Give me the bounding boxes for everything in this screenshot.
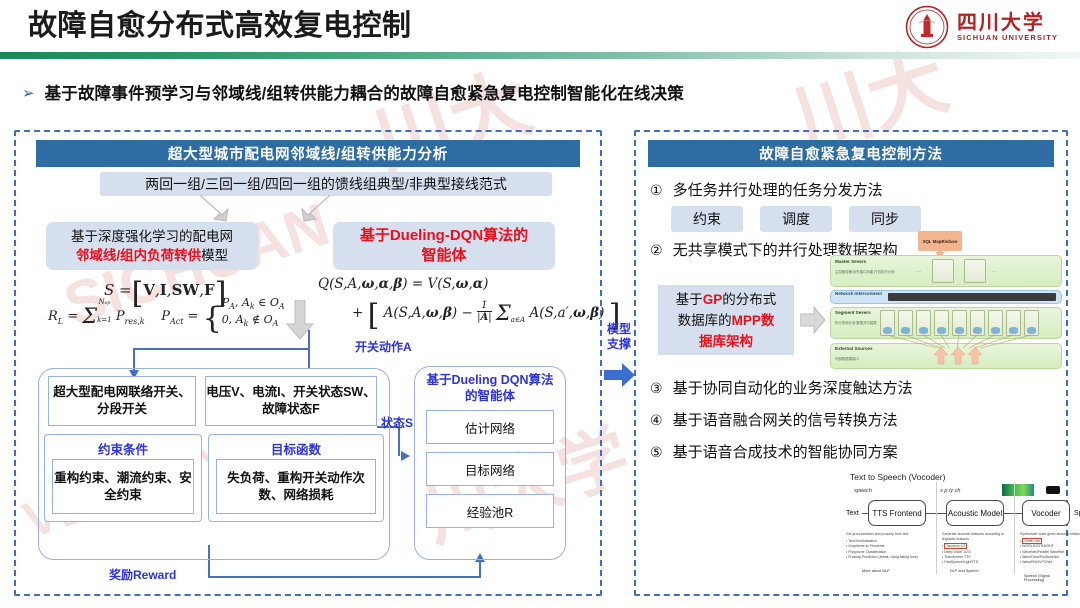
tts-col-item: Transformer TTS bbox=[944, 555, 970, 559]
mpp-band-master-sub: 主控服务器/对外接口功能 打包执行计划 bbox=[835, 270, 895, 274]
bullet-row: ➢ 基于故障事件预学习与邻域线/组转供能力耦合的故障自愈紧急复电控制智能化在线决… bbox=[22, 82, 684, 106]
list-item: ④ 基于语音融合网关的信号转换方法 bbox=[650, 410, 898, 431]
mpp-l1a: 基于 bbox=[676, 292, 703, 307]
list-number: ⑤ bbox=[650, 442, 663, 463]
bullet-arrow-icon: ➢ bbox=[22, 82, 35, 106]
model-box-line1: 基于深度强化学习的配电网 bbox=[71, 227, 233, 246]
model-box-line2: 邻域线/组内负荷转供模型 bbox=[76, 246, 228, 265]
tts-col-item: Polyphone Classification bbox=[848, 550, 886, 554]
spectrogram-thumb bbox=[1002, 484, 1034, 496]
list-item: ⑤ 基于语音合成技术的智能协同方案 bbox=[650, 442, 898, 463]
tts-col-head: Get pronunciation and prosody from text bbox=[846, 532, 930, 537]
tag-sync[interactable]: 同步 bbox=[849, 206, 921, 232]
tts-box-acoustic: Acoustic Model bbox=[946, 500, 1004, 526]
disk-icon bbox=[991, 327, 1000, 334]
mpp-line3: 据库架构 bbox=[699, 331, 753, 352]
mpp-l1-red: GP bbox=[703, 292, 723, 307]
agent-title-line1: 基于Dueling DQN算法 bbox=[426, 373, 553, 387]
mpp-band-segment-sub: 执行查询计划 数据并行装载 bbox=[835, 321, 877, 325]
tts-phoneme-label: s p iy ch bbox=[940, 488, 961, 494]
agent-box-line1: 基于Dueling-DQN算法的 bbox=[360, 226, 528, 246]
disk-icon bbox=[919, 327, 928, 334]
logo-text: 四川大学 SICHUAN UNIVERSITY bbox=[957, 11, 1058, 43]
right-panel-title: 故障自愈紧急复电控制方法 bbox=[648, 140, 1054, 167]
tts-col-item: Grapheme to Phoneme bbox=[848, 544, 884, 548]
mpp-l1b: 的分布式 bbox=[722, 292, 776, 307]
mpp-band-master-label: Master Severs bbox=[835, 259, 866, 264]
constraint-body: 重构约束、潮流约束、安全约束 bbox=[52, 459, 194, 514]
mpp-box: 基于GP的分布式 数据库的MPP数 据库架构 bbox=[658, 285, 794, 355]
tts-col-head: Generate acoustic features according to … bbox=[942, 532, 1012, 542]
model-box-line2-tail: 模型 bbox=[201, 248, 228, 263]
connector-reward-horizontal bbox=[208, 576, 480, 578]
ellipsis: ··· bbox=[992, 269, 997, 275]
tts-col-foot: Speech (Signal Processing) bbox=[1024, 574, 1062, 582]
ellipsis: ··· bbox=[916, 269, 921, 275]
mpp-line1: 基于GP的分布式 bbox=[676, 289, 777, 310]
agent-title-line2: 的智能体 bbox=[465, 389, 515, 403]
tts-col-item: WaveGlow/FloWaveNet bbox=[1022, 555, 1059, 559]
model-box-line2-red: 邻域线/组内负荷转供 bbox=[76, 248, 201, 263]
tts-title: Text to Speech (Vocoder) bbox=[850, 472, 945, 482]
label-action: 开关动作A bbox=[355, 338, 412, 355]
tts-speech-label: speech bbox=[854, 488, 872, 494]
agent-box-target: 目标网络 bbox=[426, 452, 554, 486]
down-arrow-icon bbox=[286, 300, 314, 340]
mpp-line2: 数据库的MPP数 bbox=[678, 310, 775, 331]
tts-column: Get pronunciation and prosody from text … bbox=[846, 532, 930, 560]
disk-icon bbox=[883, 327, 892, 334]
agent-box: 基于Dueling-DQN算法的 智能体 bbox=[333, 222, 555, 270]
middle-label-line2: 支撑 bbox=[607, 337, 631, 351]
tts-column: Generate acoustic features according to … bbox=[942, 532, 1012, 565]
connector-action-horizontal bbox=[134, 348, 310, 350]
disk-icon bbox=[1027, 327, 1036, 334]
objective-group: 目标函数 失负荷、重构开关动作次数、网络损耗 bbox=[208, 434, 384, 522]
formula-q1: Q(S,A,ω,α,β) = V(S,ω,α) bbox=[318, 276, 488, 292]
arrowhead-icon bbox=[399, 450, 411, 462]
header-divider bbox=[0, 52, 1080, 59]
fan-lines bbox=[875, 335, 1045, 349]
tts-output-label: Speech bbox=[1074, 510, 1080, 517]
left-panel-title: 超大型城市配电网邻域线/组转供能力分析 bbox=[36, 140, 580, 167]
label-reward: 奖励Reward bbox=[109, 566, 176, 583]
list-item: ③ 基于协同自动化的业务深度触达方法 bbox=[650, 378, 913, 399]
objective-body: 失负荷、重构开关动作次数、网络损耗 bbox=[216, 459, 376, 514]
tts-col-item-highlight: Griffin-Lim bbox=[1022, 538, 1042, 544]
tts-input-label: Text bbox=[846, 510, 859, 517]
list-number: ② bbox=[650, 240, 663, 261]
page-title: 故障自愈分布式高效复电控制 bbox=[28, 6, 412, 46]
list-number: ④ bbox=[650, 410, 663, 431]
constraint-group: 约束条件 重构约束、潮流约束、安全约束 bbox=[44, 434, 202, 522]
model-box: 基于深度强化学习的配电网 邻域线/组内负荷转供模型 bbox=[46, 222, 258, 270]
tts-col-item: WaveRNN/LPCNet bbox=[1022, 560, 1052, 564]
up-arrows-icon bbox=[934, 347, 982, 365]
tts-col-foot: NLP and Speech bbox=[950, 569, 979, 573]
tts-col-item: WORLD/STRAIGHT bbox=[1022, 544, 1054, 548]
master-server bbox=[964, 259, 986, 283]
tts-col-item-highlight: Tacotron 1/2 bbox=[944, 543, 967, 549]
pattern-pill: 两回一组/三回一组/四回一组的馈线组典型/非典型接线范式 bbox=[100, 172, 552, 196]
formula-q2: + [ A(S,A,ω,β) − 1|A| Σa∈A A(S,a′,ω,β) ] bbox=[352, 298, 620, 333]
agent-box-eval: 估计网络 bbox=[426, 410, 554, 444]
agent-title: 基于Dueling DQN算法 的智能体 bbox=[414, 372, 566, 404]
disk-icon bbox=[1009, 327, 1018, 334]
tts-col-item: FastSpeech/LightTTS bbox=[944, 560, 978, 564]
list-number: ① bbox=[650, 180, 663, 201]
mpp-l2a: 数据库的 bbox=[678, 313, 732, 328]
down-arrow-icon bbox=[196, 195, 230, 223]
constraint-title: 约束条件 bbox=[45, 439, 201, 458]
tag-schedule[interactable]: 调度 bbox=[760, 206, 832, 232]
mpp-band-external-sub: 外部数据源接口 bbox=[835, 357, 859, 361]
university-logo: 四川大学 SICHUAN UNIVERSITY bbox=[905, 4, 1058, 50]
agent-box-line2: 智能体 bbox=[421, 246, 466, 266]
mpp-band-external-label: External Sources bbox=[835, 346, 873, 351]
mpp-architecture-figure: SQL MapReduce Master Severs 主控服务器/对外接口功能… bbox=[830, 255, 1062, 371]
tts-col-item: Prosody Prediction (break, rising fallin… bbox=[848, 555, 918, 559]
switch-box: 超大型配电网联络开关、分段开关 bbox=[48, 376, 196, 426]
seal-icon bbox=[905, 5, 949, 49]
list-item: ① 多任务并行处理的任务分发方法 bbox=[650, 180, 883, 201]
tts-col-foot: More about NLP bbox=[862, 569, 890, 573]
down-arrow-icon bbox=[300, 195, 334, 223]
list-number: ③ bbox=[650, 378, 663, 399]
mpp-band-segment-label: Segment Severs bbox=[835, 310, 871, 315]
slide-root: 川大 川大 SICHUAN 川大学 尚 VERSITY 故障自愈分布式高效复电控… bbox=[0, 0, 1080, 608]
list-text: 多任务并行处理的任务分发方法 bbox=[673, 180, 883, 201]
disk-icon bbox=[973, 327, 982, 334]
mpp-band-network-label: Network Interconnect bbox=[835, 291, 882, 296]
interconnect-bar bbox=[888, 293, 1056, 301]
tts-col-item: Deep Voice 1/2/3 bbox=[944, 550, 971, 554]
tag-constraint[interactable]: 约束 bbox=[671, 206, 743, 232]
tts-col-head: Synthesize voice given acoustic features bbox=[1020, 532, 1080, 537]
label-state: 状态S bbox=[381, 414, 413, 431]
bullet-text: 基于故障事件预学习与邻域线/组转供能力耦合的故障自愈紧急复电控制智能化在线决策 bbox=[45, 82, 684, 106]
mpp-l2-red: MPP数 bbox=[732, 313, 775, 328]
disk-icon bbox=[901, 327, 910, 334]
formula-reward: RL = ΣNspk=1 Pres,k PAct = {PA, Ak ∈ OA0… bbox=[48, 296, 285, 336]
tts-col-item: WaveNet/Parallel WaveNet bbox=[1022, 550, 1064, 554]
master-server bbox=[932, 259, 954, 283]
list-text: 基于语音合成技术的智能协同方案 bbox=[673, 442, 898, 463]
list-text: 基于协同自动化的业务深度触达方法 bbox=[673, 378, 913, 399]
tts-box-frontend: TTS Frontend bbox=[868, 500, 926, 526]
tts-pipeline-figure: Text to Speech (Vocoder) speech s p iy c… bbox=[650, 470, 1062, 582]
tts-column: Synthesize voice given acoustic features… bbox=[1020, 532, 1080, 565]
right-arrow-icon bbox=[800, 305, 826, 335]
tts-box-vocoder: Vocoder bbox=[1022, 500, 1070, 526]
tts-col-item: Text Normalization bbox=[848, 539, 877, 543]
waveform-thumb bbox=[1046, 486, 1060, 494]
list-text: 基于语音融合网关的信号转换方法 bbox=[673, 410, 898, 431]
middle-label: 模型 支撑 bbox=[604, 322, 634, 352]
disk-icon bbox=[937, 327, 946, 334]
objective-title: 目标函数 bbox=[209, 439, 383, 458]
state-box: 电压V、电流I、开关状态SW、故障状态F bbox=[205, 376, 377, 426]
agent-box-replay: 经验池R bbox=[426, 494, 554, 528]
disk-icon bbox=[955, 327, 964, 334]
right-arrow-icon bbox=[604, 362, 636, 388]
middle-label-line1: 模型 bbox=[607, 322, 631, 336]
